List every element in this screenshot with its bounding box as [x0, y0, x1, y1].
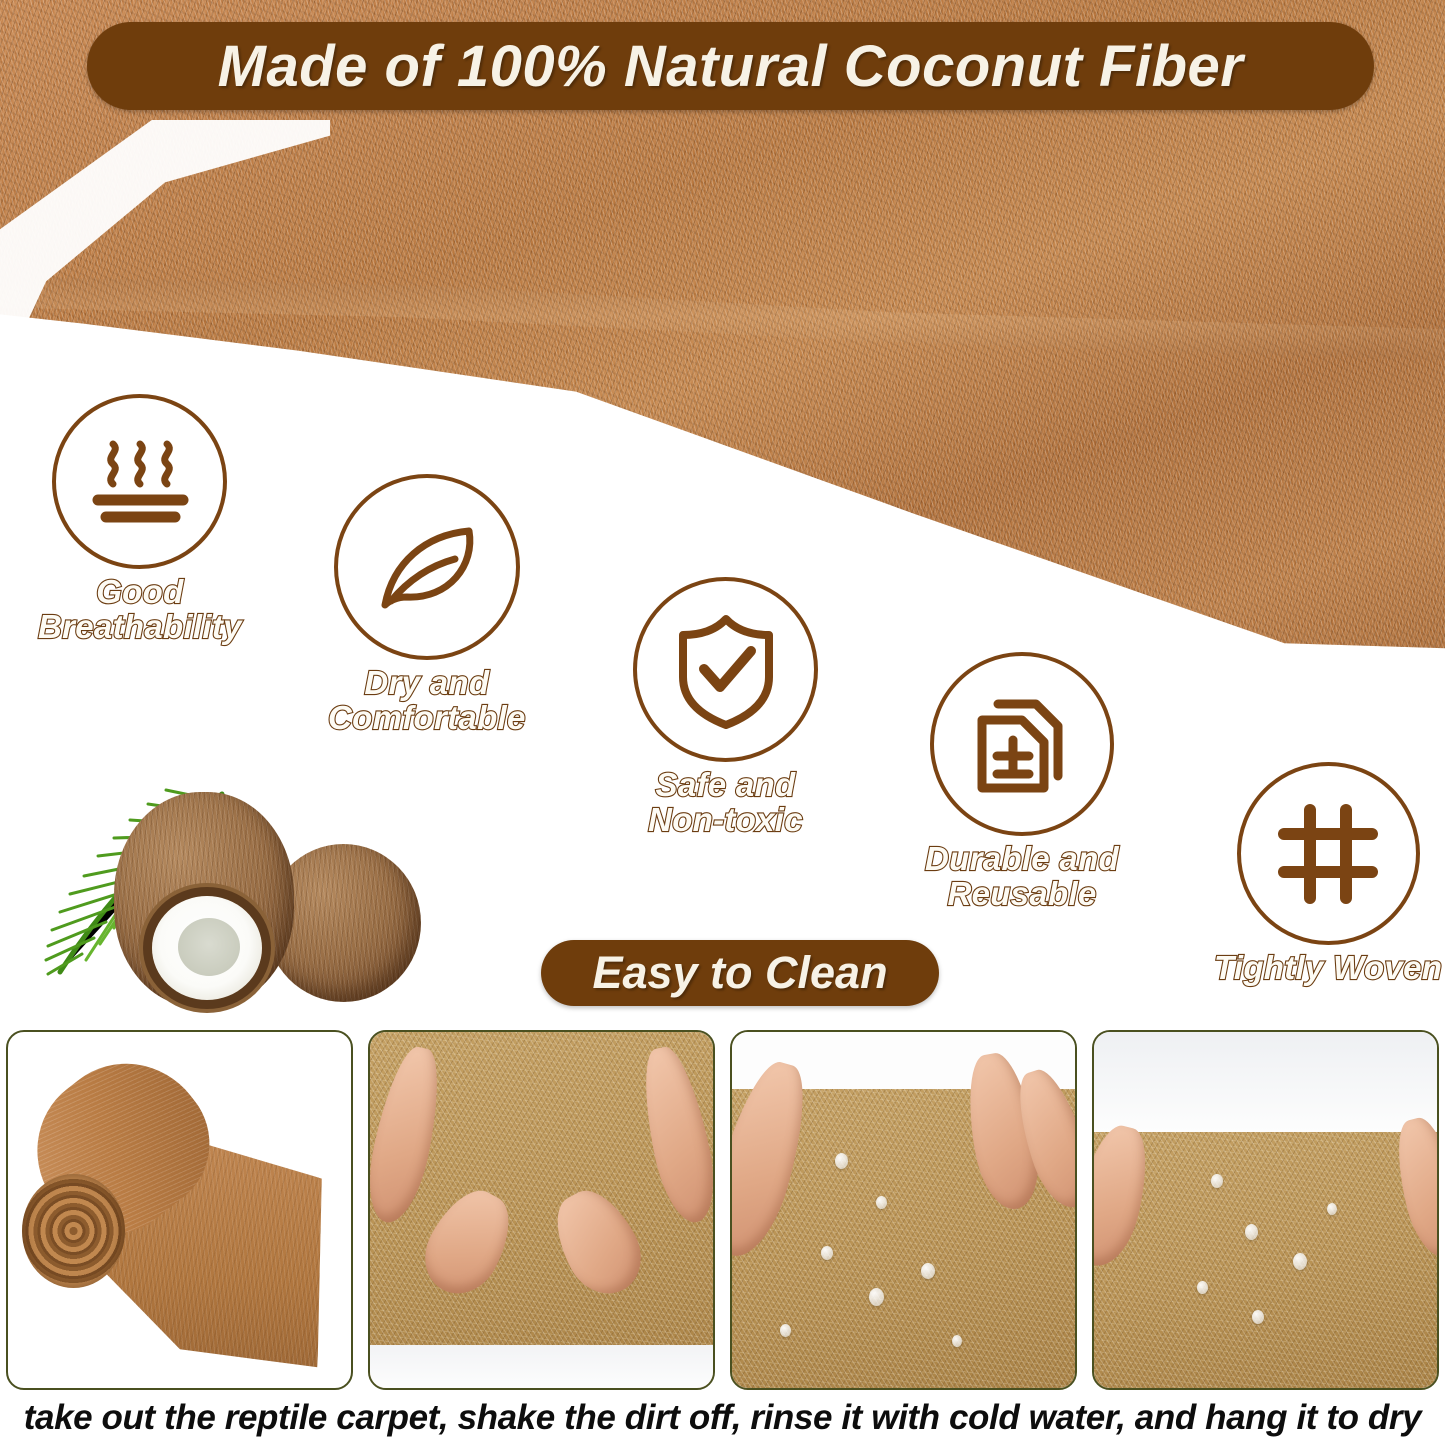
- photo-background: [1094, 1032, 1437, 1132]
- easy-to-clean-banner: Easy to Clean: [541, 940, 939, 1006]
- coconut-illustration: [8, 778, 438, 1023]
- shield-check-icon: [633, 577, 818, 762]
- water-droplet: [1197, 1281, 1208, 1294]
- care-instructions-caption: take out the reptile carpet, shake the d…: [0, 1392, 1445, 1443]
- mat-roll-spiral: [22, 1174, 125, 1288]
- photo-wet-mat-hands: [730, 1030, 1077, 1390]
- page-title: Made of 100% Natural Coconut Fiber: [218, 33, 1244, 100]
- feature-breathability: Good Breathability: [38, 394, 242, 645]
- photo-wet-mat-closeup: [1092, 1030, 1439, 1390]
- water-droplet: [921, 1263, 935, 1279]
- feature-label: Dry and Comfortable: [328, 666, 526, 736]
- water-droplet: [1252, 1310, 1264, 1324]
- feature-label-line2: Reusable: [925, 877, 1119, 912]
- water-droplet: [1211, 1174, 1223, 1188]
- steam-icon: [52, 394, 227, 569]
- coconut-flesh-core: [178, 918, 240, 976]
- feature-label: Safe and Non-toxic: [648, 768, 803, 838]
- water-droplet: [835, 1153, 848, 1169]
- feature-durable-reusable: Durable and Reusable: [925, 652, 1119, 912]
- fiber-surface: [1094, 1132, 1437, 1388]
- feature-label-line1: Durable and: [925, 842, 1119, 877]
- leaf-icon: [334, 474, 520, 660]
- feature-label: Good Breathability: [38, 575, 242, 645]
- water-droplet: [1293, 1253, 1307, 1270]
- feature-label-line1: Dry and: [328, 666, 526, 701]
- feature-label-line1: Tightly Woven: [1214, 951, 1442, 986]
- product-infographic: Made of 100% Natural Coconut Fiber Good …: [0, 0, 1445, 1443]
- photo-rolled-mat: [6, 1030, 353, 1390]
- feature-label-line1: Safe and: [648, 768, 803, 803]
- photo-hands-folding: [368, 1030, 715, 1390]
- feature-label: Durable and Reusable: [925, 842, 1119, 912]
- feature-label-line2: Non-toxic: [648, 803, 803, 838]
- easy-to-clean-title: Easy to Clean: [592, 947, 887, 999]
- documents-icon: [930, 652, 1114, 836]
- photo-strip: [0, 1030, 1445, 1390]
- caption-text: take out the reptile carpet, shake the d…: [24, 1398, 1421, 1438]
- feature-label-line1: Good: [38, 575, 242, 610]
- feature-label-line2: Breathability: [38, 610, 242, 645]
- water-droplet: [876, 1196, 887, 1209]
- feature-safe-nontoxic: Safe and Non-toxic: [633, 577, 818, 838]
- water-droplet: [952, 1335, 962, 1347]
- water-droplet: [780, 1324, 791, 1337]
- title-banner: Made of 100% Natural Coconut Fiber: [87, 22, 1374, 110]
- water-droplet: [821, 1246, 833, 1260]
- weave-grid-icon: [1237, 762, 1420, 945]
- feature-dry-comfortable: Dry and Comfortable: [328, 474, 526, 736]
- feature-label-line2: Comfortable: [328, 701, 526, 736]
- photo-background: [370, 1345, 713, 1388]
- feature-tightly-woven: Tightly Woven: [1214, 762, 1442, 986]
- feature-label: Tightly Woven: [1214, 951, 1442, 986]
